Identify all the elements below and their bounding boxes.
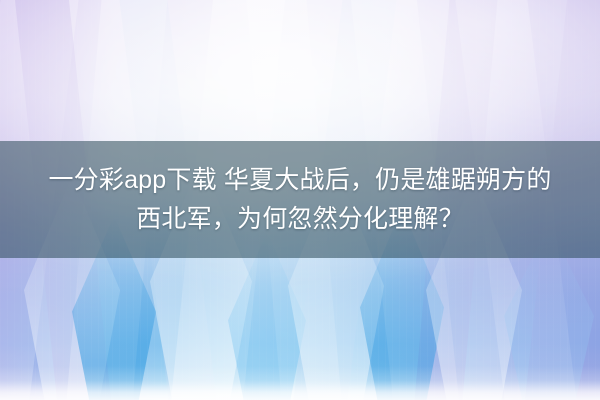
cover-title: 一分彩app下载 华夏大战后，仍是雄踞朔方的 西北军，为何忽然分化理解？ [48, 161, 551, 239]
title-overlay-band: 一分彩app下载 华夏大战后，仍是雄踞朔方的 西北军，为何忽然分化理解？ [0, 141, 600, 258]
cover-image: 一分彩app下载 华夏大战后，仍是雄踞朔方的 西北军，为何忽然分化理解？ [0, 0, 600, 400]
background-bottom-glow [0, 366, 600, 400]
